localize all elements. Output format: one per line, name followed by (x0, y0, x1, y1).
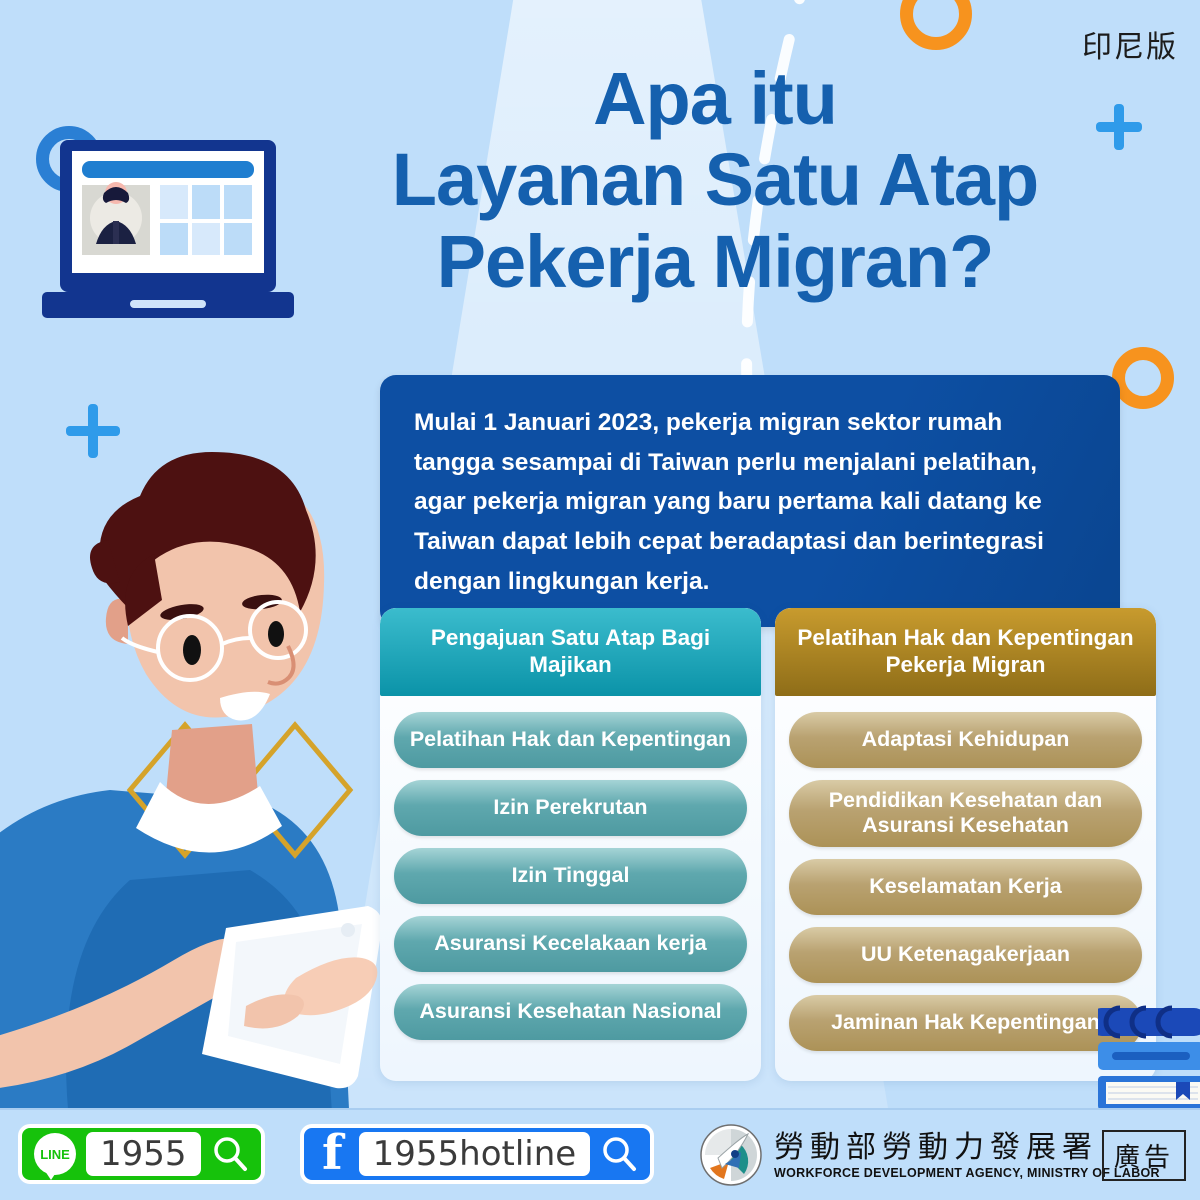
page-title: Apa itu Layanan Satu Atap Pekerja Migran… (300, 58, 1130, 302)
list-item[interactable]: Asuransi Kecelakaan kerja (394, 916, 747, 972)
books-illustration (1098, 1000, 1200, 1118)
speech-bubble: Mulai 1 Januari 2023, pekerja migran sek… (380, 375, 1120, 627)
panel-employer-one-stop: Pengajuan Satu Atap Bagi Majikan Pelatih… (380, 608, 761, 1081)
search-icon[interactable] (600, 1135, 638, 1173)
list-item[interactable]: Izin Tinggal (394, 848, 747, 904)
list-item[interactable]: Izin Perekrutan (394, 780, 747, 836)
list-item[interactable]: Asuransi Kesehatan Nasional (394, 984, 747, 1040)
agency-logo-icon (700, 1124, 762, 1186)
title-line-3: Pekerja Migran? (300, 221, 1130, 302)
panel-items-migrant-training: Adaptasi Kehidupan Pendidikan Kesehatan … (775, 696, 1156, 1051)
line-contact-chip[interactable]: LINE 1955 (18, 1124, 265, 1184)
facebook-contact-chip[interactable]: f 1955hotline (300, 1124, 654, 1184)
poster-root: 印尼版 Apa itu Layanan Satu Atap Pekerja Mi… (0, 0, 1200, 1200)
info-panels: Pengajuan Satu Atap Bagi Majikan Pelatih… (380, 608, 1156, 1081)
speech-bubble-text: Mulai 1 Januari 2023, pekerja migran sek… (414, 409, 1044, 595)
panel-header-employer: Pengajuan Satu Atap Bagi Majikan (380, 608, 761, 696)
facebook-page-value: 1955hotline (359, 1132, 591, 1177)
panel-items-employer: Pelatihan Hak dan Kepentingan Izin Perek… (380, 696, 761, 1040)
ad-label-badge: 廣告 (1102, 1130, 1186, 1181)
laptop-illustration (34, 140, 302, 340)
footer-bar: LINE 1955 f 1955hotline (0, 1108, 1200, 1200)
title-line-2: Layanan Satu Atap (300, 139, 1130, 220)
person-illustration (0, 430, 430, 1130)
line-id-value: 1955 (86, 1132, 201, 1177)
title-line-1: Apa itu (300, 58, 1130, 139)
list-item[interactable]: Adaptasi Kehidupan (789, 712, 1142, 768)
panel-header-migrant-training: Pelatihan Hak dan Kepentingan Pekerja Mi… (775, 608, 1156, 696)
search-icon[interactable] (211, 1135, 249, 1173)
facebook-icon: f (316, 1131, 349, 1177)
list-item[interactable]: Jaminan Hak Kepentingan (789, 995, 1142, 1051)
list-item[interactable]: UU Ketenagakerjaan (789, 927, 1142, 983)
list-item[interactable]: Pendidikan Kesehatan dan Asuransi Keseha… (789, 780, 1142, 847)
line-icon: LINE (34, 1133, 76, 1175)
agency-branding: 勞動部勞動力發展署 WORKFORCE DEVELOPMENT AGENCY, … (700, 1124, 1160, 1186)
list-item[interactable]: Keselamatan Kerja (789, 859, 1142, 915)
orange-ring-decoration (1112, 347, 1174, 409)
list-item[interactable]: Pelatihan Hak dan Kepentingan (394, 712, 747, 768)
